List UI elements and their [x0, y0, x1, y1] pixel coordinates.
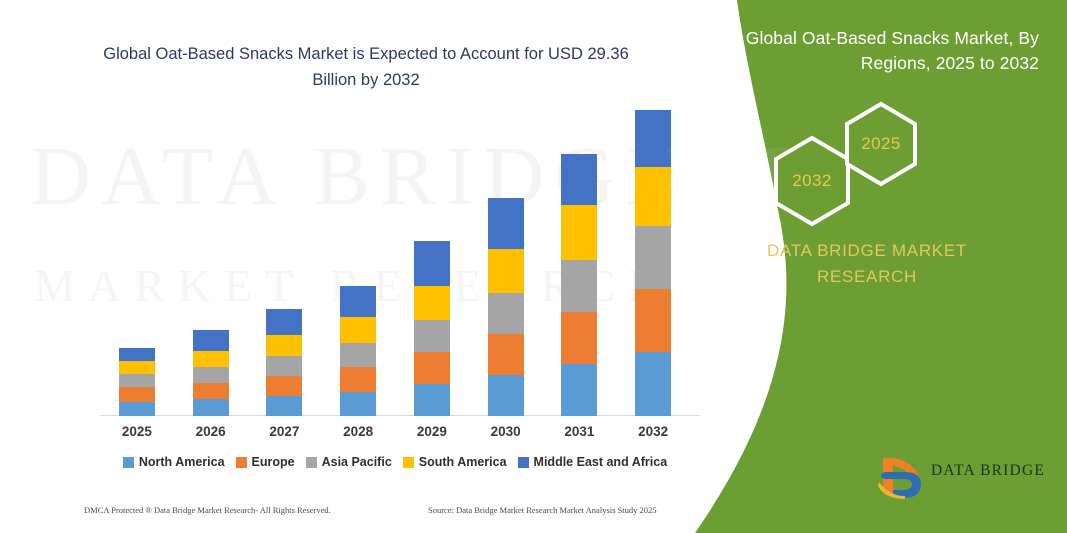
legend-label: Europe [252, 455, 295, 469]
chart-title: Global Oat-Based Snacks Market is Expect… [96, 42, 636, 93]
bar-segment [414, 320, 450, 352]
stacked-bar [193, 330, 229, 416]
legend-label: Asia Pacific [322, 455, 392, 469]
legend-swatch [306, 457, 317, 468]
bar-segment [340, 343, 376, 367]
bar-segment [635, 167, 671, 226]
bar-series-container [100, 110, 690, 416]
stacked-bar [414, 241, 450, 416]
legend-label: Middle East and Africa [534, 455, 668, 469]
bar-column [175, 110, 247, 416]
bar-segment [340, 286, 376, 317]
bar-segment [266, 309, 302, 336]
legend-item[interactable]: Europe [236, 455, 295, 469]
x-axis-labels: 20252026202720282029203020312032 [100, 424, 690, 448]
x-axis-label: 2026 [175, 424, 247, 448]
bar-segment [266, 376, 302, 396]
bar-segment [488, 375, 524, 416]
logo-title: DATA BRIDGE [931, 462, 1045, 480]
bar-column [396, 110, 468, 416]
footer-copyright: DMCA Protected ® Data Bridge Market Rese… [84, 505, 331, 515]
bar-segment [561, 154, 597, 205]
bar-segment [561, 312, 597, 364]
logo-subtitle: MARKET RESEARCH [932, 482, 1057, 492]
legend-label: South America [419, 455, 507, 469]
x-axis-label: 2027 [248, 424, 320, 448]
bar-column [101, 110, 173, 416]
bar-segment [193, 383, 229, 400]
logo-mark-icon [875, 452, 929, 502]
chart-legend: North AmericaEuropeAsia PacificSouth Ame… [100, 455, 690, 469]
footer: DMCA Protected ® Data Bridge Market Rese… [0, 505, 700, 529]
green-panel-content: RI Global Oat-Based Snacks Market, By Re… [667, 0, 1067, 533]
bar-segment [414, 241, 450, 285]
bar-segment [635, 110, 671, 167]
stacked-bar [635, 110, 671, 416]
bar-segment [414, 286, 450, 320]
bar-segment [635, 289, 671, 352]
bar-segment [488, 293, 524, 334]
bar-segment [193, 330, 229, 351]
bar-segment [266, 356, 302, 376]
legend-item[interactable]: South America [403, 455, 507, 469]
stacked-bar [340, 286, 376, 416]
bar-segment [414, 352, 450, 384]
bar-segment [266, 396, 302, 416]
legend-item[interactable]: Asia Pacific [306, 455, 392, 469]
bar-segment [340, 392, 376, 416]
hexagon-group: 2032 2025 [763, 100, 1043, 230]
x-axis-label: 2029 [396, 424, 468, 448]
infographic-root: Global Oat-Based Snacks Market is Expect… [0, 0, 1067, 533]
bar-segment [119, 348, 155, 361]
bar-segment [119, 374, 155, 387]
x-axis-label: 2028 [322, 424, 394, 448]
bar-segment [340, 317, 376, 344]
legend-swatch [236, 457, 247, 468]
bar-segment [561, 260, 597, 312]
bar-segment [266, 335, 302, 356]
green-side-panel: RI Global Oat-Based Snacks Market, By Re… [667, 0, 1067, 533]
legend-item[interactable]: North America [123, 455, 225, 469]
legend-swatch [518, 457, 529, 468]
brand-name: DATA BRIDGE MARKET RESEARCH [707, 238, 1027, 291]
bar-segment [488, 249, 524, 293]
brand-line-2: RESEARCH [707, 264, 1027, 290]
bar-segment [340, 367, 376, 391]
legend-swatch [403, 457, 414, 468]
chart-plot-area [100, 110, 690, 416]
hexagon-2025-label: 2025 [841, 100, 921, 188]
bar-segment [635, 226, 671, 289]
bar-column [322, 110, 394, 416]
bar-segment [193, 399, 229, 416]
footer-source: Source: Data Bridge Market Research Mark… [428, 505, 657, 515]
bar-segment [635, 352, 671, 416]
legend-label: North America [139, 455, 225, 469]
bar-segment [119, 361, 155, 374]
stacked-bar [488, 198, 524, 416]
x-axis-label: 2030 [470, 424, 542, 448]
bar-segment [119, 387, 155, 401]
data-bridge-logo: DATA BRIDGE MARKET RESEARCH [875, 452, 1065, 508]
bar-segment [561, 205, 597, 260]
brand-line-1: DATA BRIDGE MARKET [707, 238, 1027, 264]
bar-segment [414, 384, 450, 416]
bar-segment [488, 198, 524, 249]
bar-segment [119, 402, 155, 416]
green-panel-title: Global Oat-Based Snacks Market, By Regio… [719, 26, 1039, 77]
bar-column [543, 110, 615, 416]
bar-segment [193, 367, 229, 382]
bar-column [470, 110, 542, 416]
stacked-bar [266, 309, 302, 416]
stacked-bar [561, 154, 597, 416]
bar-segment [561, 364, 597, 416]
bar-segment [193, 351, 229, 368]
legend-item[interactable]: Middle East and Africa [518, 455, 668, 469]
bar-column [248, 110, 320, 416]
bar-segment [488, 334, 524, 375]
x-axis-label: 2025 [101, 424, 173, 448]
x-axis-label: 2031 [543, 424, 615, 448]
stacked-bar [119, 348, 155, 416]
legend-swatch [123, 457, 134, 468]
hexagon-2025: 2025 [841, 100, 921, 188]
